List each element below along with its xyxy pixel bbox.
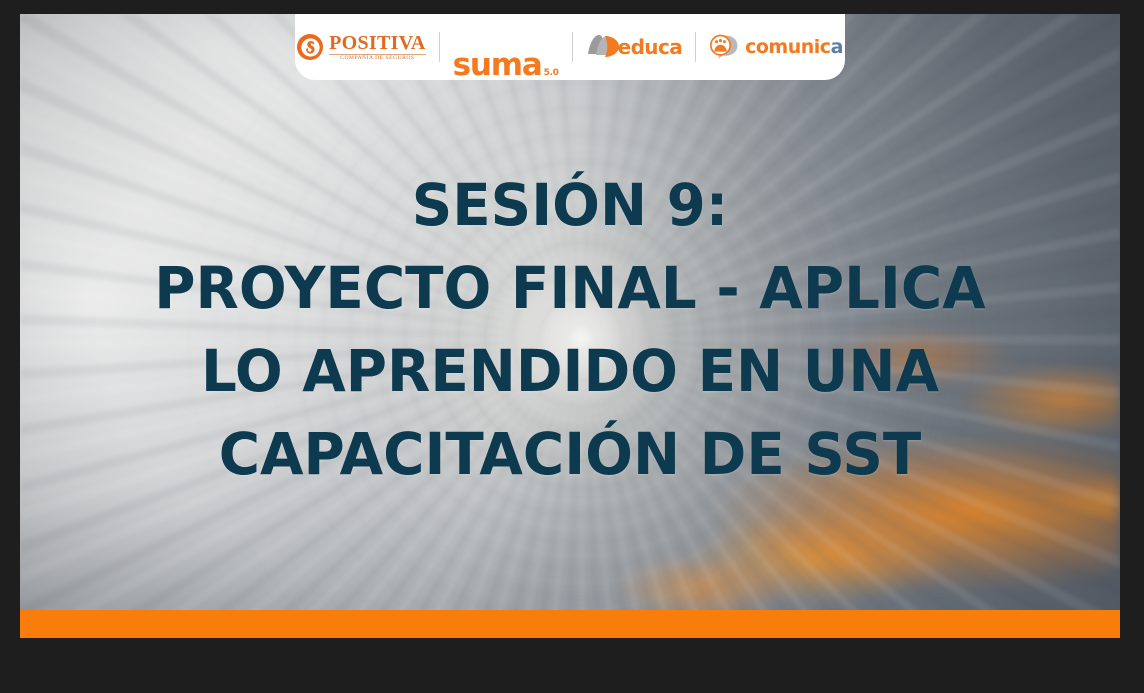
positiva-wordmark: POSITIVA COMPAÑÍA DE SEGUROS [329,33,426,62]
positiva-bird-mark-icon [297,34,323,60]
educa-name: educa [618,35,682,59]
comunica-people-bubble-icon [709,33,739,61]
comunica-name: comunica [745,36,843,58]
footer-accent-bar [20,610,1120,638]
positiva-tagline: COMPAÑÍA DE SEGUROS [329,54,426,62]
suma-version: 5.0 [544,68,559,80]
logo-suma: suma 5.0 [440,14,572,80]
title-line-1: SESIÓN 9: [54,164,1086,247]
slide-canvas: POSITIVA COMPAÑÍA DE SEGUROS suma 5.0 ed… [20,14,1120,638]
suma-name: suma [453,51,542,80]
brand-logo-bar: POSITIVA COMPAÑÍA DE SEGUROS suma 5.0 ed… [295,14,845,80]
logo-positiva: POSITIVA COMPAÑÍA DE SEGUROS [284,14,439,80]
logo-comunica: comunica [696,14,856,80]
title-line-3: LO APRENDIDO EN UNA [54,330,1086,413]
comunica-name-main: comunic [745,36,830,58]
logo-educa: educa [573,14,695,80]
positiva-name: POSITIVA [329,33,426,53]
comunica-name-tail: a [831,36,843,58]
title-line-4: CAPACITACIÓN DE SST [54,413,1086,496]
slide-title: SESIÓN 9: PROYECTO FINAL - APLICA LO APR… [20,164,1120,496]
title-line-2: PROYECTO FINAL - APLICA [54,247,1086,330]
